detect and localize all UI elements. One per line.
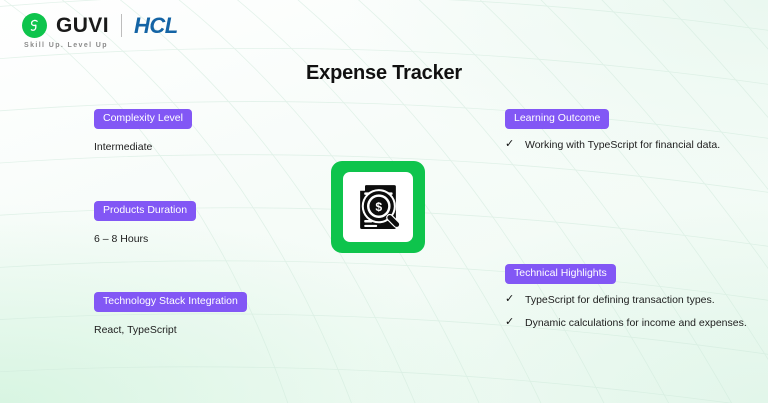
expense-tracker-icon-card: $: [331, 161, 425, 253]
svg-text:$: $: [375, 200, 382, 214]
badge-products-duration: Products Duration: [94, 201, 196, 221]
info-block-technical-highlights: Technical Highlights ✓ TypeScript for de…: [505, 263, 755, 330]
slide-canvas: GUVI HCL Skill Up. Level Up Expense Trac…: [0, 0, 768, 403]
badge-technology-stack-integration: Technology Stack Integration: [94, 292, 247, 312]
list-item: ✓ Dynamic calculations for income and ex…: [505, 316, 755, 330]
list-item: ✓ Working with TypeScript for financial …: [505, 138, 755, 152]
value-technology-stack-integration: React, TypeScript: [94, 323, 344, 337]
hcl-wordmark: HCL: [134, 15, 178, 37]
guvi-g-mark-icon: [22, 13, 47, 38]
list-item: ✓ TypeScript for defining transaction ty…: [505, 293, 755, 307]
badge-complexity-level: Complexity Level: [94, 109, 192, 129]
brand-logo-bar: GUVI HCL Skill Up. Level Up: [22, 13, 178, 49]
logo-divider: [121, 14, 122, 37]
brand-tagline: Skill Up. Level Up: [24, 42, 178, 49]
bullet-list-learning-outcome: ✓ Working with TypeScript for financial …: [505, 138, 755, 152]
bullet-text: Working with TypeScript for financial da…: [525, 138, 720, 152]
bullet-text: Dynamic calculations for income and expe…: [525, 316, 747, 330]
check-icon: ✓: [505, 138, 516, 151]
logo-row: GUVI HCL: [22, 13, 178, 38]
icon-card-inner-panel: $: [343, 172, 413, 242]
check-icon: ✓: [505, 293, 516, 306]
info-block-products-duration: Products Duration 6 – 8 Hours: [94, 200, 344, 246]
guvi-wordmark: GUVI: [56, 15, 109, 36]
badge-technical-highlights: Technical Highlights: [505, 264, 616, 284]
bullet-text: TypeScript for defining transaction type…: [525, 293, 715, 307]
value-products-duration: 6 – 8 Hours: [94, 232, 344, 246]
check-icon: ✓: [505, 316, 516, 329]
info-block-technology-stack-integration: Technology Stack Integration React, Type…: [94, 291, 344, 337]
expense-document-magnifier-dollar-icon: $: [352, 181, 404, 233]
bullet-list-technical-highlights: ✓ TypeScript for defining transaction ty…: [505, 293, 755, 331]
info-block-learning-outcome: Learning Outcome ✓ Working with TypeScri…: [505, 108, 755, 152]
value-complexity-level: Intermediate: [94, 140, 344, 154]
badge-learning-outcome: Learning Outcome: [505, 109, 609, 129]
info-block-complexity-level: Complexity Level Intermediate: [94, 108, 344, 154]
page-title: Expense Tracker: [0, 62, 768, 85]
